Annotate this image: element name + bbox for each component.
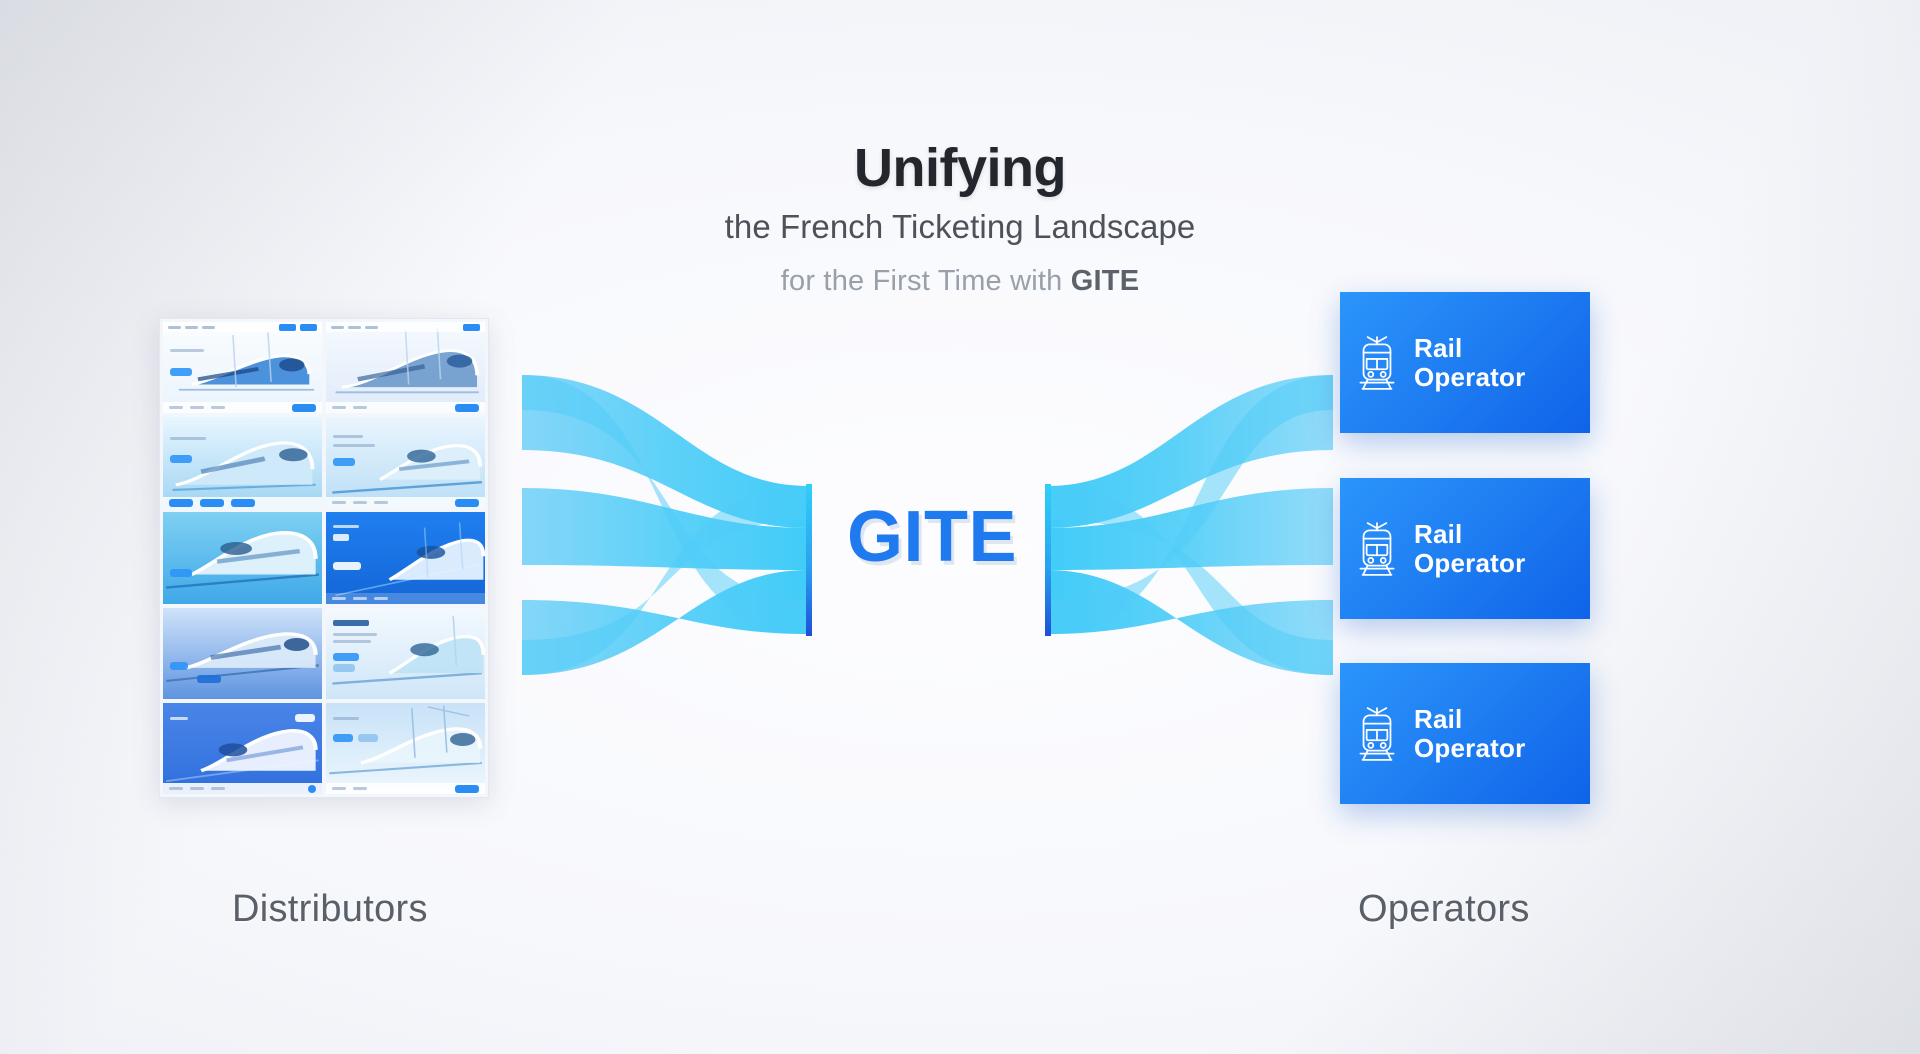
distributor-thumbnail[interactable] <box>326 512 485 603</box>
operator-card-line-1: Rail <box>1414 705 1525 733</box>
train-illustration <box>163 512 322 603</box>
operators-label: Operators <box>1358 888 1530 931</box>
thumbnail-footer <box>326 783 485 794</box>
distributor-thumbnail[interactable] <box>326 608 485 699</box>
operator-card-label: Rail Operator <box>1414 520 1525 576</box>
tram-icon <box>1354 334 1400 392</box>
operator-card-label: Rail Operator <box>1414 705 1525 761</box>
operator-card-line-2: Operator <box>1414 734 1525 762</box>
distributors-thumbnail-grid[interactable] <box>159 318 489 798</box>
train-illustration <box>163 608 322 699</box>
slide-canvas: Unifying the French Ticketing Landscape … <box>0 0 1920 1054</box>
operator-card-label: Rail Operator <box>1414 334 1525 390</box>
distributor-thumbnail[interactable] <box>163 608 322 699</box>
operator-card-line-2: Operator <box>1414 363 1525 391</box>
thumbnail-footer <box>326 402 485 413</box>
operators-node-bar <box>1045 484 1051 636</box>
distributor-thumbnail[interactable] <box>326 703 485 794</box>
distributor-thumbnail[interactable] <box>163 417 322 508</box>
thumbnail-footer <box>163 497 322 508</box>
headline-line-2: the French Ticketing Landscape <box>0 207 1920 247</box>
operator-card-line-1: Rail <box>1414 334 1525 362</box>
distributors-node-bar <box>806 484 812 636</box>
thumbnail-navbar <box>163 322 322 332</box>
thumbnail-footer <box>326 497 485 508</box>
operator-card[interactable]: Rail Operator <box>1340 292 1590 433</box>
train-illustration <box>326 322 485 413</box>
distributor-thumbnail[interactable] <box>326 322 485 413</box>
thumbnail-navbar <box>326 322 485 332</box>
distributors-label: Distributors <box>232 888 428 931</box>
gite-wordmark: GITE <box>847 501 1017 573</box>
distributor-thumbnail[interactable] <box>326 417 485 508</box>
headline-block: Unifying the French Ticketing Landscape … <box>0 140 1920 299</box>
thumbnail-footer <box>326 593 485 604</box>
tram-icon <box>1354 520 1400 578</box>
tram-icon <box>1354 705 1400 763</box>
operator-card-line-2: Operator <box>1414 549 1525 577</box>
operator-card-line-1: Rail <box>1414 520 1525 548</box>
operator-card[interactable]: Rail Operator <box>1340 478 1590 619</box>
distributor-thumbnail[interactable] <box>163 322 322 413</box>
headline-line-3-prefix: for the First Time with <box>781 265 1071 297</box>
thumbnail-footer <box>163 783 322 794</box>
headline-line-3: for the First Time with GITE <box>0 264 1920 299</box>
headline-line-1: Unifying <box>0 140 1920 197</box>
flow-ribbons-right <box>1047 375 1333 675</box>
operator-card[interactable]: Rail Operator <box>1340 663 1590 804</box>
headline-brand-gite: GITE <box>1071 265 1139 297</box>
thumbnail-footer <box>163 402 322 413</box>
distributor-thumbnail[interactable] <box>163 703 322 794</box>
distributor-thumbnail[interactable] <box>163 512 322 603</box>
gite-wordmark-container: GITE <box>832 492 1032 582</box>
flow-ribbons-left <box>522 375 808 675</box>
